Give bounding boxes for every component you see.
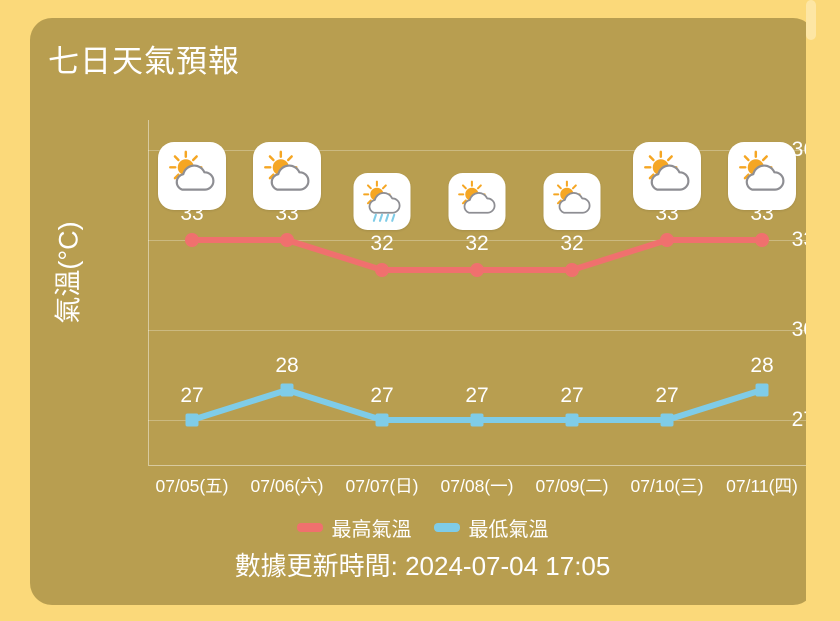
sun-behind-cloud-icon bbox=[449, 173, 506, 230]
low-temp-value: 27 bbox=[655, 384, 678, 408]
high-temp-value: 33 bbox=[180, 202, 203, 226]
low-temp-point bbox=[756, 384, 769, 397]
y-axis-tick-label: 30 bbox=[705, 318, 815, 342]
y-axis-line bbox=[148, 120, 149, 465]
high-temp-point bbox=[470, 263, 484, 277]
high-temp-value: 33 bbox=[750, 202, 773, 226]
legend-swatch bbox=[297, 523, 323, 532]
legend-label: 最高氣溫 bbox=[332, 513, 412, 542]
high-temp-point bbox=[660, 233, 674, 247]
high-temp-value: 32 bbox=[370, 232, 393, 256]
legend-label: 最低氣溫 bbox=[469, 513, 549, 542]
sun-behind-cloud-rain-icon bbox=[354, 173, 411, 230]
sun-behind-cloud-icon bbox=[544, 173, 601, 230]
chart-legend: 最高氣溫最低氣溫 bbox=[30, 513, 815, 542]
update-timestamp: 數據更新時間: 2024-07-04 17:05 bbox=[30, 546, 815, 583]
low-temp-value: 27 bbox=[370, 384, 393, 408]
y-axis-label: 氣溫(°C) bbox=[47, 193, 86, 353]
high-temp-point bbox=[755, 233, 769, 247]
high-temp-point bbox=[185, 233, 199, 247]
sun-behind-cloud-icon bbox=[158, 142, 226, 210]
x-axis-tick-label: 07/09(二) bbox=[536, 473, 609, 498]
sun-behind-cloud-icon bbox=[253, 142, 321, 210]
legend-swatch bbox=[434, 523, 460, 532]
low-temp-value: 27 bbox=[180, 384, 203, 408]
page-scrollbar-thumb[interactable] bbox=[806, 0, 816, 40]
low-temp-point bbox=[186, 414, 199, 427]
x-axis-tick-label: 07/05(五) bbox=[156, 473, 229, 498]
high-temp-value: 33 bbox=[275, 202, 298, 226]
low-temp-value: 28 bbox=[275, 354, 298, 378]
low-temp-point bbox=[281, 384, 294, 397]
x-axis-tick-label: 07/08(一) bbox=[441, 473, 514, 498]
high-temp-value: 32 bbox=[560, 232, 583, 256]
x-axis-tick-label: 07/10(三) bbox=[631, 473, 704, 498]
x-axis-tick-label: 07/11(四) bbox=[726, 473, 798, 498]
high-temp-value: 32 bbox=[465, 232, 488, 256]
low-temp-point bbox=[661, 414, 674, 427]
low-temp-point bbox=[566, 414, 579, 427]
high-temp-point bbox=[280, 233, 294, 247]
weather-forecast-card: 七日天氣預報 27303336 氣溫(°C) 33333232323333272… bbox=[30, 18, 815, 605]
legend-item[interactable]: 最高氣溫 bbox=[297, 513, 412, 542]
low-temp-value: 28 bbox=[750, 354, 773, 378]
high-temp-point bbox=[375, 263, 389, 277]
y-axis-tick-label: 27 bbox=[705, 408, 815, 432]
forecast-chart: 27303336 氣溫(°C) 333332323233332728272727… bbox=[30, 18, 815, 605]
low-temp-point bbox=[376, 414, 389, 427]
page-scrollbar-track[interactable] bbox=[806, 0, 816, 621]
high-temp-point bbox=[565, 263, 579, 277]
sun-behind-cloud-icon bbox=[633, 142, 701, 210]
x-axis-tick-label: 07/06(六) bbox=[251, 473, 324, 498]
x-axis-line bbox=[148, 465, 808, 466]
low-temp-value: 27 bbox=[560, 384, 583, 408]
low-temp-point bbox=[471, 414, 484, 427]
x-axis-tick-label: 07/07(日) bbox=[346, 473, 419, 498]
low-temp-value: 27 bbox=[465, 384, 488, 408]
high-temp-value: 33 bbox=[655, 202, 678, 226]
legend-item[interactable]: 最低氣溫 bbox=[434, 513, 549, 542]
sun-behind-cloud-icon bbox=[728, 142, 796, 210]
